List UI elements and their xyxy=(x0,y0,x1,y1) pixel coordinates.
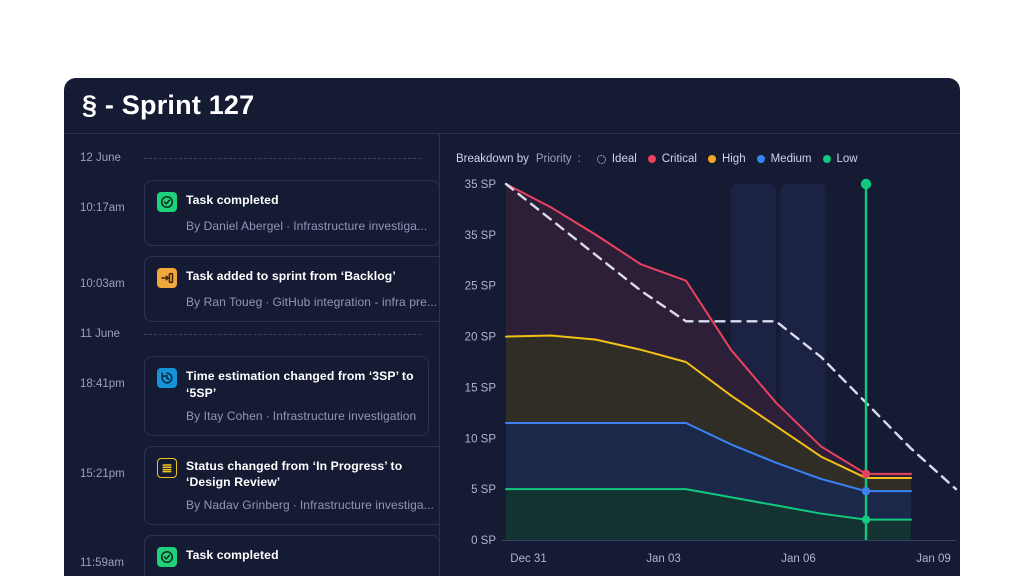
activity-meta: By Daniel Abergel·Infrastructure investi… xyxy=(157,219,427,233)
y-axis-tick: 35 SP xyxy=(465,230,497,242)
feed-day-divider: 11 June xyxy=(64,322,439,346)
medium-dot-icon xyxy=(757,155,765,163)
feed-day-label: 11 June xyxy=(80,328,144,340)
legend-heading: Breakdown by xyxy=(456,153,529,165)
activity-entry[interactable]: 18:41pmTime estimation changed from ‘3SP… xyxy=(64,356,439,436)
sprint-panel: § - Sprint 127 12 June10:17amTask comple… xyxy=(64,78,960,576)
today-marker-point-low[interactable] xyxy=(862,515,870,523)
activity-task-name[interactable]: Infrastructure investiga... xyxy=(293,219,427,233)
activity-time: 15:21pm xyxy=(80,446,144,480)
activity-author: By Itay Cohen xyxy=(186,409,263,423)
activity-card-header: Task completed xyxy=(157,192,427,212)
activity-title: Task completed xyxy=(186,192,279,209)
activity-card[interactable]: Task added to sprint from ‘Backlog’By Ra… xyxy=(144,256,440,322)
today-marker-point-total[interactable] xyxy=(861,179,871,189)
legend-label-ideal: Ideal xyxy=(612,153,637,165)
y-axis-tick: 10 SP xyxy=(465,433,497,445)
x-axis-tick: Jan 09 xyxy=(916,553,951,565)
activity-author: By Nadav Grinberg xyxy=(186,498,290,512)
y-axis-tick: 5 SP xyxy=(471,484,496,496)
task-completed-icon xyxy=(157,192,177,212)
x-axis-tick: Jan 03 xyxy=(646,553,681,565)
activity-author: By Ran Toueg xyxy=(186,295,262,309)
activity-entry[interactable]: 10:03amTask added to sprint from ‘Backlo… xyxy=(64,256,439,322)
activity-card-header: Status changed from ‘In Progress’ to ‘De… xyxy=(157,458,434,492)
feed-day-divider: 12 June xyxy=(64,146,439,170)
panel-body: 12 June10:17amTask completedBy Daniel Ab… xyxy=(64,134,960,576)
activity-title: Time estimation changed from ‘3SP’ to ‘5… xyxy=(186,368,416,402)
feed-day-label: 12 June xyxy=(80,152,144,164)
critical-dot-icon xyxy=(648,155,656,163)
feed-day-rule xyxy=(144,334,421,335)
burndown-svg: 0 SP5 SP10 SP15 SP20 SP25 SP35 SP35 SPDe… xyxy=(454,176,960,576)
today-marker-point-critical[interactable] xyxy=(862,470,870,478)
activity-meta-separator: · xyxy=(283,219,293,233)
activity-title: Status changed from ‘In Progress’ to ‘De… xyxy=(186,458,434,492)
y-axis-tick: 25 SP xyxy=(465,281,497,293)
burndown-chart-panel: Breakdown by Priority : Ideal Critical H… xyxy=(440,134,960,576)
activity-card[interactable]: Time estimation changed from ‘3SP’ to ‘5… xyxy=(144,356,429,436)
y-axis-tick: 0 SP xyxy=(471,535,496,547)
activity-time: 10:17am xyxy=(80,180,144,214)
legend-item-ideal[interactable]: Ideal xyxy=(597,153,637,165)
activity-card-header: Time estimation changed from ‘3SP’ to ‘5… xyxy=(157,368,416,402)
panel-header: § - Sprint 127 xyxy=(64,78,960,134)
activity-meta: By Itay Cohen·Infrastructure investigati… xyxy=(157,409,416,423)
activity-meta-separator: · xyxy=(262,295,272,309)
task-completed-icon xyxy=(157,547,177,567)
activity-time: 11:59am xyxy=(80,535,144,569)
activity-feed[interactable]: 12 June10:17amTask completedBy Daniel Ab… xyxy=(64,134,440,576)
chart-legend: Breakdown by Priority : Ideal Critical H… xyxy=(454,148,960,170)
plot-area[interactable]: 0 SP5 SP10 SP15 SP20 SP25 SP35 SP35 SPDe… xyxy=(454,176,960,576)
activity-entry[interactable]: 10:17amTask completedBy Daniel Abergel·I… xyxy=(64,180,439,246)
legend-breakdown-key[interactable]: Priority xyxy=(529,153,572,165)
legend-label-medium: Medium xyxy=(771,153,812,165)
y-axis-tick: 20 SP xyxy=(465,332,497,344)
low-dot-icon xyxy=(823,155,831,163)
activity-task-name[interactable]: GitHub integration - infra pre... xyxy=(272,295,437,309)
activity-entry[interactable]: 15:21pmStatus changed from ‘In Progress’… xyxy=(64,446,439,526)
activity-meta: By Nadav Grinberg·Infrastructure investi… xyxy=(157,498,434,512)
legend-item-high[interactable]: High xyxy=(708,153,746,165)
activity-time: 10:03am xyxy=(80,256,144,290)
activity-card-header: Task completed xyxy=(157,547,427,567)
add-to-sprint-icon xyxy=(157,268,177,288)
legend-item-medium[interactable]: Medium xyxy=(757,153,812,165)
time-estimation-icon xyxy=(157,368,177,388)
activity-card[interactable]: Task completedBy Daniel Abergel·Infrastr… xyxy=(144,180,440,246)
activity-card[interactable]: Task completedBy Daniel Abergel·Infrastr… xyxy=(144,535,440,576)
activity-title: Task completed xyxy=(186,547,279,564)
today-marker-point-medium[interactable] xyxy=(862,487,870,495)
legend-item-low[interactable]: Low xyxy=(823,153,858,165)
activity-meta-separator: · xyxy=(263,409,273,423)
activity-meta: By Ran Toueg·GitHub integration - infra … xyxy=(157,295,437,309)
status-changed-icon xyxy=(157,458,177,478)
activity-meta-separator: · xyxy=(290,498,300,512)
legend-label-high: High xyxy=(722,153,746,165)
activity-entry[interactable]: 11:59amTask completedBy Daniel Abergel·I… xyxy=(64,535,439,576)
legend-label-low: Low xyxy=(837,153,858,165)
ideal-dotted-circle-icon xyxy=(597,155,606,164)
x-axis-tick: Jan 06 xyxy=(781,553,816,565)
y-axis-tick: 35 SP xyxy=(465,179,497,191)
legend-colon: : xyxy=(572,153,586,165)
legend-label-critical: Critical xyxy=(662,153,697,165)
activity-card-header: Task added to sprint from ‘Backlog’ xyxy=(157,268,437,288)
activity-task-name[interactable]: Infrastructure investiga... xyxy=(300,498,434,512)
activity-author: By Daniel Abergel xyxy=(186,219,283,233)
activity-task-name[interactable]: Infrastructure investigation xyxy=(273,409,417,423)
legend-item-critical[interactable]: Critical xyxy=(648,153,697,165)
activity-title: Task added to sprint from ‘Backlog’ xyxy=(186,268,396,285)
high-dot-icon xyxy=(708,155,716,163)
page-title: § - Sprint 127 xyxy=(82,90,254,121)
feed-day-rule xyxy=(144,158,421,159)
y-axis-tick: 15 SP xyxy=(465,382,497,394)
activity-time: 18:41pm xyxy=(80,356,144,390)
activity-card[interactable]: Status changed from ‘In Progress’ to ‘De… xyxy=(144,446,440,526)
x-axis-tick: Dec 31 xyxy=(510,553,546,565)
